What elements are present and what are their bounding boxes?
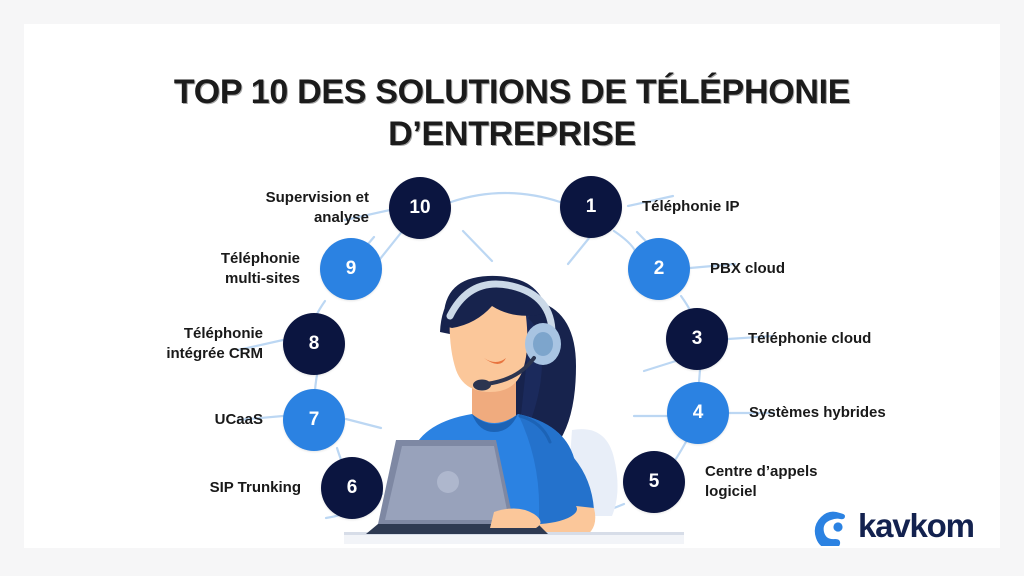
node-number: 5 bbox=[649, 471, 660, 493]
node-circle-2[interactable]: 2 bbox=[628, 238, 690, 300]
node-label-2: PBX cloud bbox=[710, 259, 950, 279]
node-label-9: Téléphonie multi-sites bbox=[70, 249, 300, 289]
node-number: 2 bbox=[654, 258, 665, 280]
node-number: 8 bbox=[309, 333, 320, 355]
node-number: 9 bbox=[346, 258, 357, 280]
node-number: 10 bbox=[409, 197, 430, 219]
node-circle-7[interactable]: 7 bbox=[283, 389, 345, 451]
node-circle-1[interactable]: 1 bbox=[560, 176, 622, 238]
node-label-7: UCaaS bbox=[33, 410, 263, 430]
node-circle-3[interactable]: 3 bbox=[666, 308, 728, 370]
node-circle-6[interactable]: 6 bbox=[321, 457, 383, 519]
node-number: 1 bbox=[586, 196, 597, 218]
node-label-6: SIP Trunking bbox=[71, 478, 301, 498]
node-circle-8[interactable]: 8 bbox=[283, 313, 345, 375]
node-circle-9[interactable]: 9 bbox=[320, 238, 382, 300]
node-label-10: Supervision et analyse bbox=[139, 188, 369, 228]
infographic-canvas: TOP 10 DES SOLUTIONS DE TÉLÉPHONIE D’ENT… bbox=[24, 24, 1000, 548]
node-label-8: Téléphonie intégrée CRM bbox=[33, 324, 263, 364]
node-label-3: Téléphonie cloud bbox=[748, 329, 988, 349]
node-label-5: Centre d’appels logiciel bbox=[705, 462, 945, 502]
node-label-1: Téléphonie IP bbox=[642, 197, 882, 217]
circular-diagram: 1Téléphonie IP2PBX cloud3Téléphonie clou… bbox=[24, 24, 1000, 548]
node-circle-10[interactable]: 10 bbox=[389, 177, 451, 239]
node-number: 4 bbox=[693, 402, 704, 424]
node-label-4: Systèmes hybrides bbox=[749, 403, 989, 423]
node-number: 7 bbox=[309, 409, 320, 431]
node-number: 3 bbox=[692, 328, 703, 350]
node-circle-4[interactable]: 4 bbox=[667, 382, 729, 444]
kavkom-logo-text: kavkom bbox=[858, 507, 974, 545]
kavkom-logo: kavkom bbox=[810, 503, 990, 548]
kavkom-logo-mark bbox=[810, 506, 850, 546]
node-number: 6 bbox=[347, 477, 358, 499]
node-circle-5[interactable]: 5 bbox=[623, 451, 685, 513]
